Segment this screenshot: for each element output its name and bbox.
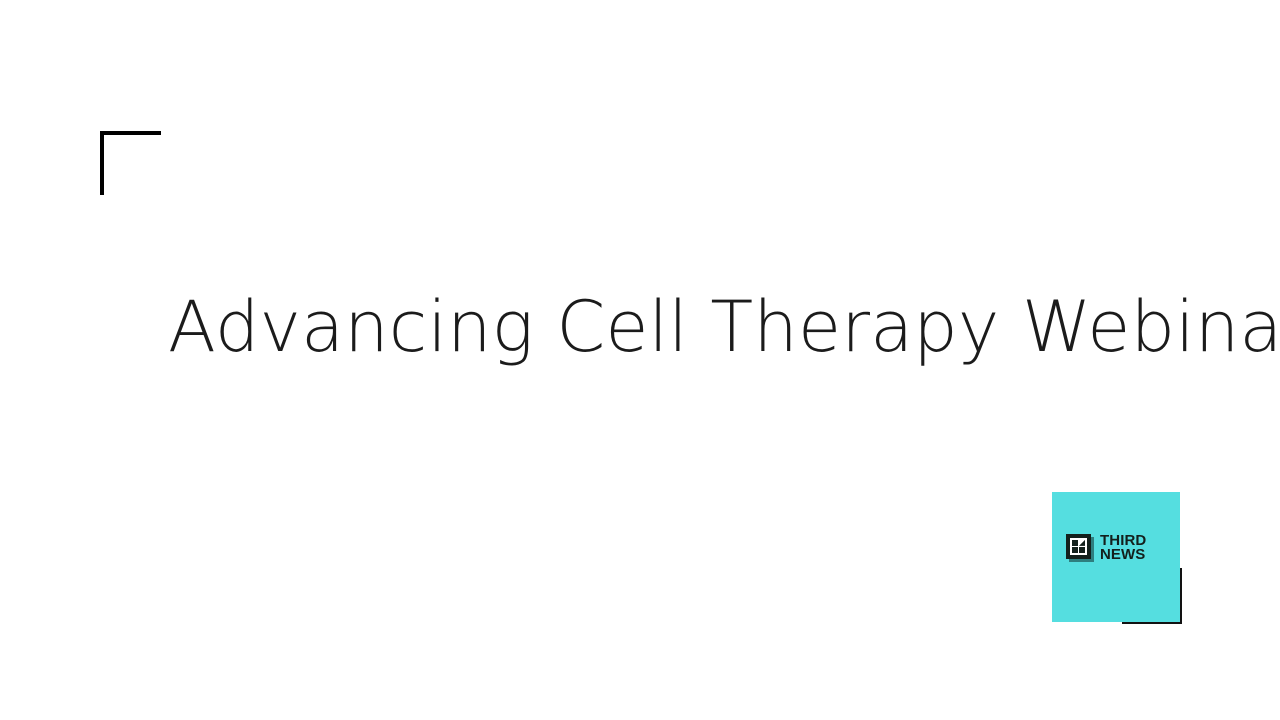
logo-lockup: THIRD NEWS [1066, 534, 1146, 563]
logo-tile: THIRD NEWS [1052, 492, 1180, 622]
icon-pane-bottom-right [1079, 547, 1085, 553]
icon-pane-top-left [1072, 540, 1078, 546]
title-block: Advancing Cell Therapy Webinar [168, 290, 1108, 366]
top-left-corner-bracket [100, 131, 161, 195]
slide-title: Advancing Cell Therapy Webinar [168, 290, 1108, 366]
icon-pane-bottom-left [1072, 547, 1078, 553]
logo-wordmark: THIRD NEWS [1100, 534, 1146, 563]
presentation-slide: Advancing Cell Therapy Webinar THIRD NEW… [0, 0, 1280, 720]
newspaper-window-icon [1066, 534, 1094, 562]
logo-word-line-2: NEWS [1100, 548, 1146, 562]
logo-zone: THIRD NEWS [1052, 492, 1252, 692]
